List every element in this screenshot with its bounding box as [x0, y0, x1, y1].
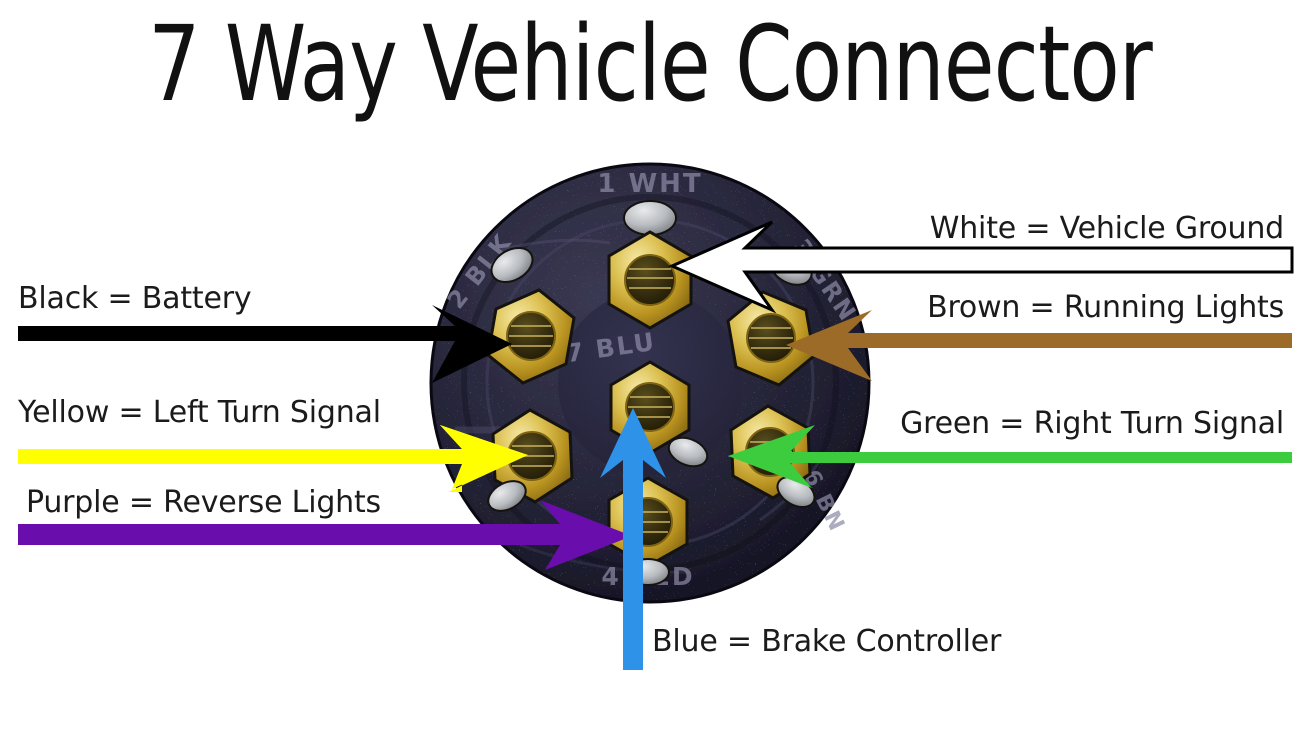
label-blue: Blue = Brake Controller [652, 627, 1001, 657]
connector-diagram: 1 WHT 2 BLK 3 GRN 7 BLU 4 RED 5 6 BN [0, 0, 1300, 730]
label-purple: Purple = Reverse Lights [26, 488, 381, 518]
label-brown: Brown = Running Lights [927, 293, 1284, 323]
arrow-yellow [18, 425, 528, 492]
label-white: White = Vehicle Ground [930, 214, 1284, 244]
label-green: Green = Right Turn Signal [900, 409, 1284, 439]
diagram-canvas: 7 Way Vehicle Connector [0, 0, 1300, 730]
label-yellow: Yellow = Left Turn Signal [18, 398, 381, 428]
marking-1-wht: 1 WHT [597, 169, 702, 199]
label-black: Black = Battery [18, 284, 251, 314]
